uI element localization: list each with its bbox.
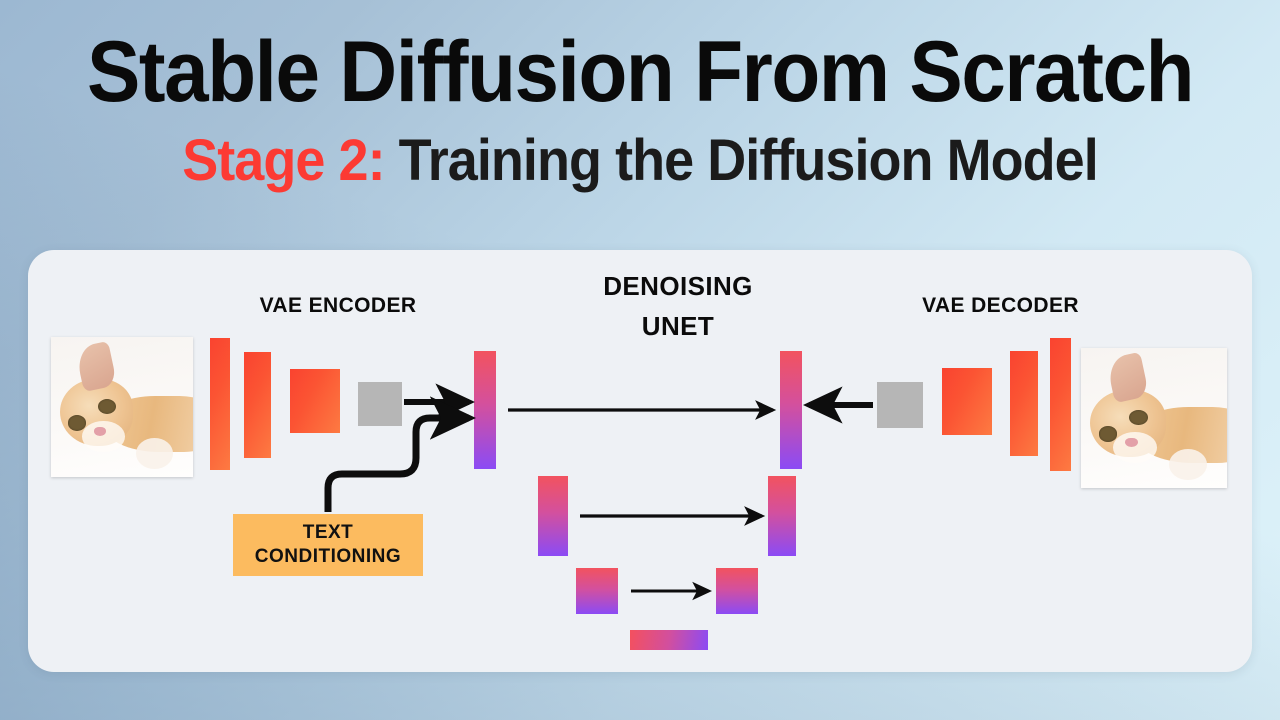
subtitle-rest: Training the Diffusion Model bbox=[385, 128, 1098, 193]
cat-paw bbox=[1169, 449, 1207, 480]
unet-down-block-2 bbox=[576, 568, 618, 614]
cat-muzzle bbox=[82, 421, 125, 452]
decoder-latent-block bbox=[877, 382, 923, 428]
header: Stable Diffusion From Scratch Stage 2: T… bbox=[0, 0, 1280, 192]
arrow-conditioning-to-latent bbox=[328, 418, 469, 512]
subtitle-stage: Stage 2: bbox=[182, 128, 384, 193]
decoder-block-2 bbox=[1010, 351, 1038, 456]
cat-eye-right bbox=[1129, 410, 1148, 425]
input-image-photo bbox=[51, 337, 193, 477]
decoder-block-3 bbox=[1050, 338, 1071, 471]
cat-muzzle bbox=[1113, 432, 1157, 463]
label-denoising-unet-line2: UNET bbox=[533, 306, 823, 346]
label-vae-encoder: VAE ENCODER bbox=[243, 294, 433, 318]
encoder-block-3 bbox=[290, 369, 340, 433]
cat-eye-left bbox=[68, 415, 86, 430]
diagram-card: VAE ENCODER DENOISING UNET VAE DECODER bbox=[28, 250, 1252, 672]
unet-output-latent-bar bbox=[780, 351, 802, 469]
unet-input-latent-bar bbox=[474, 351, 496, 469]
unet-up-block-2 bbox=[716, 568, 758, 614]
decoder-block-1 bbox=[942, 368, 992, 435]
text-conditioning-line1: TEXT bbox=[303, 521, 354, 545]
page-subtitle: Stage 2: Training the Diffusion Model bbox=[45, 130, 1235, 192]
page-title: Stable Diffusion From Scratch bbox=[45, 28, 1235, 116]
text-conditioning-box: TEXT CONDITIONING bbox=[233, 514, 423, 576]
label-denoising-unet: DENOISING UNET bbox=[533, 266, 823, 346]
cat-eye-left bbox=[1099, 426, 1118, 441]
cat-paw bbox=[136, 438, 173, 469]
unet-up-block-1 bbox=[768, 476, 796, 556]
label-vae-decoder: VAE DECODER bbox=[908, 294, 1093, 318]
unet-bottleneck-block bbox=[630, 630, 708, 650]
encoder-latent-block bbox=[358, 382, 402, 426]
unet-down-block-1 bbox=[538, 476, 568, 556]
output-image-photo bbox=[1081, 348, 1227, 488]
text-conditioning-line2: CONDITIONING bbox=[255, 545, 401, 569]
encoder-block-1 bbox=[210, 338, 230, 470]
label-denoising-unet-line1: DENOISING bbox=[533, 266, 823, 306]
encoder-block-2 bbox=[244, 352, 271, 458]
